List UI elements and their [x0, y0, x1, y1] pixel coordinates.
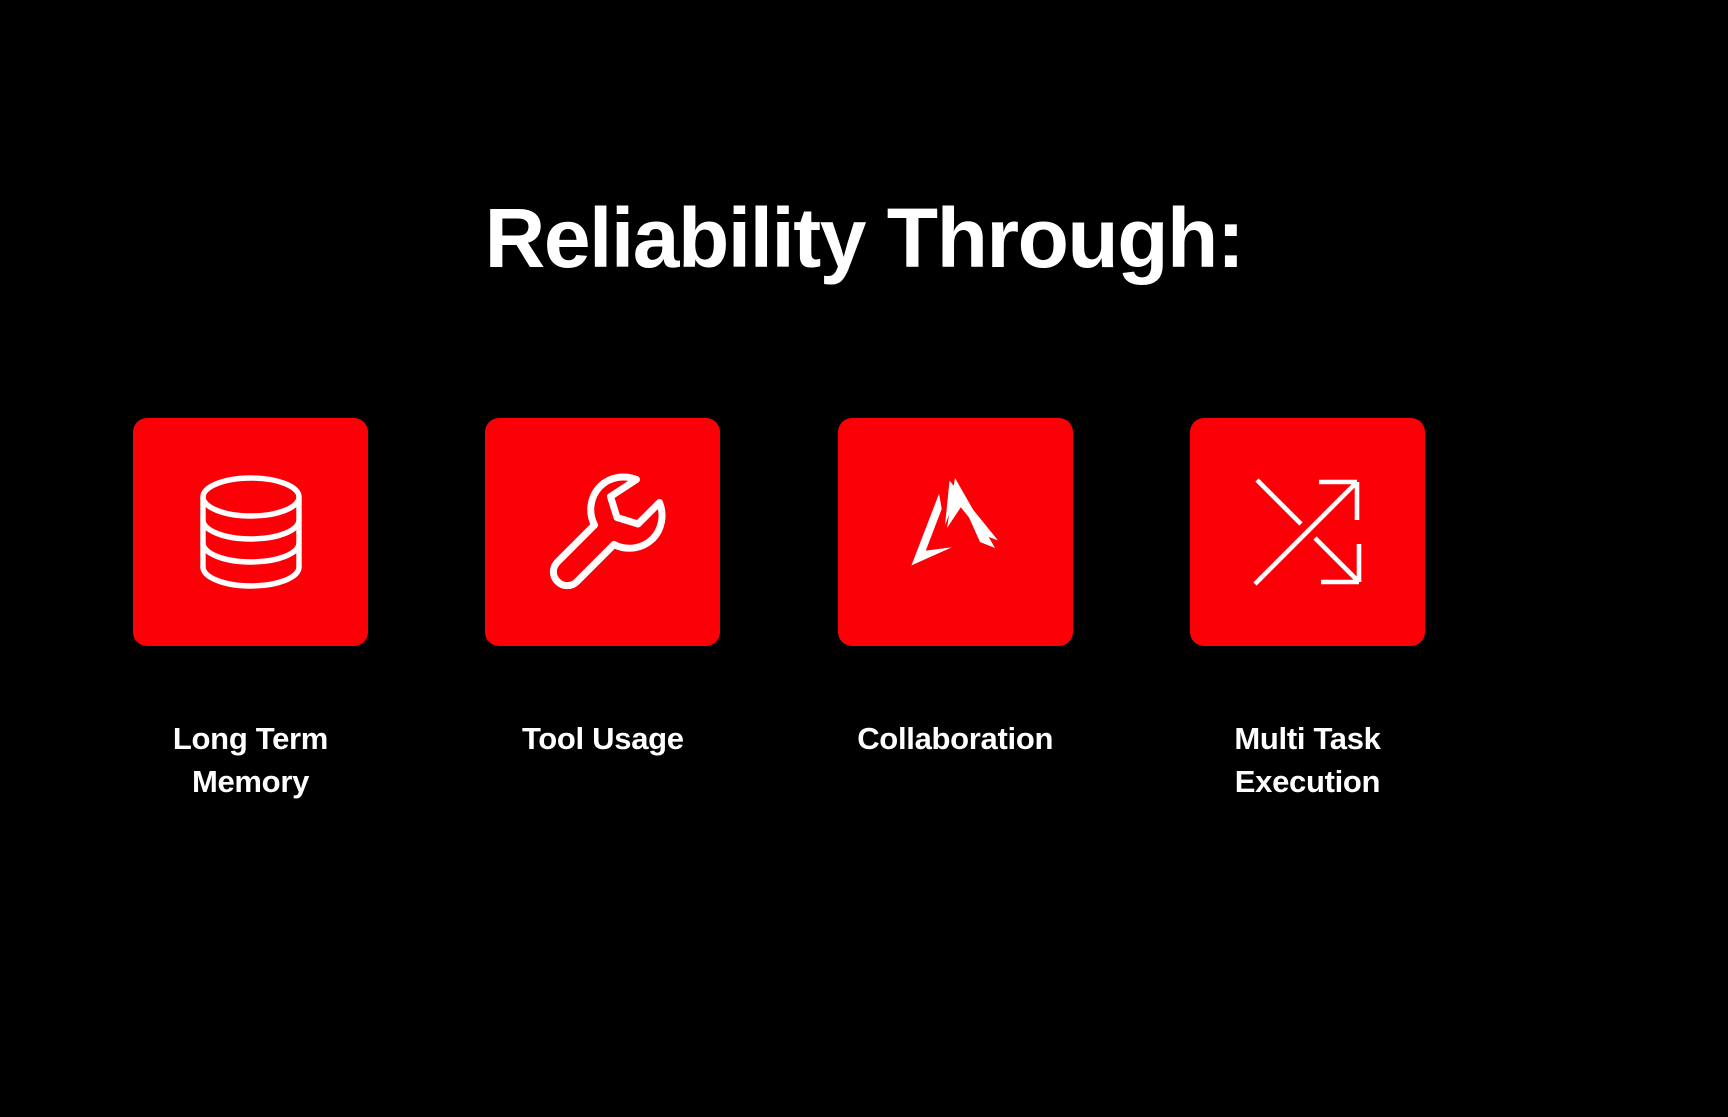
- icon-tile: [838, 418, 1073, 646]
- icon-tile: [485, 418, 720, 646]
- page-title: Reliability Through:: [0, 196, 1728, 280]
- feature-card-label: Tool Usage: [522, 718, 684, 761]
- recycle-arrows-icon: [892, 472, 1018, 592]
- database-icon: [191, 473, 311, 591]
- feature-card-long-term-memory[interactable]: Long Term Memory: [133, 418, 368, 804]
- wrench-icon: [540, 469, 666, 595]
- icon-tile: [1190, 418, 1425, 646]
- feature-card-label: Multi Task Execution: [1234, 718, 1380, 804]
- feature-card-row: Long Term Memory Tool Usage: [133, 418, 1425, 848]
- slide-canvas: Reliability Through: Long Term Memory: [0, 0, 1728, 1117]
- feature-card-label: Collaboration: [857, 718, 1053, 761]
- feature-card-tool-usage[interactable]: Tool Usage: [485, 418, 720, 761]
- feature-card-multi-task-execution[interactable]: Multi Task Execution: [1190, 418, 1425, 804]
- icon-tile: [133, 418, 368, 646]
- feature-card-collaboration[interactable]: Collaboration: [838, 418, 1073, 761]
- feature-card-label: Long Term Memory: [173, 718, 328, 804]
- shuffle-arrows-icon: [1247, 472, 1367, 592]
